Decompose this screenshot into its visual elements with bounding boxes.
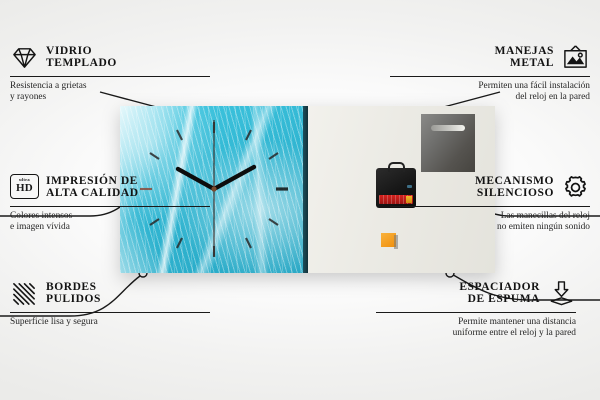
diamond-icon <box>10 44 39 71</box>
feature-desc-line1: Permite mantener una distancia <box>376 317 576 328</box>
feature-desc-line1: Las manecillas del reloj <box>390 211 590 222</box>
feature-title-line2: PULIDOS <box>46 293 101 306</box>
feature-desc-line1: Colores intensos <box>10 211 210 222</box>
feature-title-line2: METAL <box>495 57 554 70</box>
gear-icon <box>561 174 590 201</box>
feature-title-line1: BORDES <box>46 281 101 294</box>
feature-mecanismo-silencioso: MECANISMO SILENCIOSO Las manecillas del … <box>390 170 590 234</box>
feature-title-line1: ESPACIADOR <box>459 281 540 294</box>
foam-spacer <box>381 233 396 247</box>
feature-desc-line2: uniforme entre el reloj y la pared <box>376 328 576 339</box>
divider <box>390 206 590 207</box>
feature-manejas-metal: MANEJAS METAL Permiten una fácil instala… <box>390 40 590 104</box>
hanger-slot <box>431 125 465 131</box>
divider <box>10 76 210 77</box>
ultra-hd-icon: ultra HD <box>10 174 39 201</box>
feature-title-line2: ALTA CALIDAD <box>46 187 139 200</box>
feature-title-line2: TEMPLADO <box>46 57 117 70</box>
feature-bordes-pulidos: BORDES PULIDOS Superficie lisa y segura <box>10 276 210 328</box>
infographic-canvas: VIDRIO TEMPLADO Resistencia a grietas y … <box>0 0 600 400</box>
feature-desc-line1: Permiten una fácil instalación <box>390 81 590 92</box>
metal-hanger-plate <box>421 114 475 172</box>
feature-desc-line2: no emiten ningún sonido <box>390 222 590 233</box>
feature-title-line1: IMPRESIÓN DE <box>46 175 139 188</box>
feature-desc-line1: Resistencia a grietas <box>10 81 210 92</box>
feature-title-line1: MECANISMO <box>475 175 554 188</box>
feature-espaciador-espuma: ESPACIADOR DE ESPUMA Permite mantener un… <box>376 276 576 340</box>
feature-vidrio-templado: VIDRIO TEMPLADO Resistencia a grietas y … <box>10 40 210 104</box>
feature-impresion-alta-calidad: ultra HD IMPRESIÓN DE ALTA CALIDAD Color… <box>10 170 210 234</box>
feature-title-line1: VIDRIO <box>46 45 117 58</box>
divider <box>10 206 210 207</box>
divider <box>376 312 576 313</box>
spacer-arrow-icon <box>547 280 576 307</box>
divider <box>10 312 210 313</box>
feature-desc-line2: del reloj en la pared <box>390 92 590 103</box>
divider <box>390 76 590 77</box>
feature-desc-line1: Superficie lisa y segura <box>10 317 210 328</box>
feature-desc-line2: e imagen vívida <box>10 222 210 233</box>
feature-desc-line2: y rayones <box>10 92 210 103</box>
feature-title-line2: DE ESPUMA <box>459 293 540 306</box>
feature-title-line1: MANEJAS <box>495 45 554 58</box>
feature-title-line2: SILENCIOSO <box>475 187 554 200</box>
polished-edges-icon <box>10 280 39 307</box>
ultra-hd-label-main: HD <box>16 183 33 194</box>
picture-frame-icon <box>561 44 590 71</box>
